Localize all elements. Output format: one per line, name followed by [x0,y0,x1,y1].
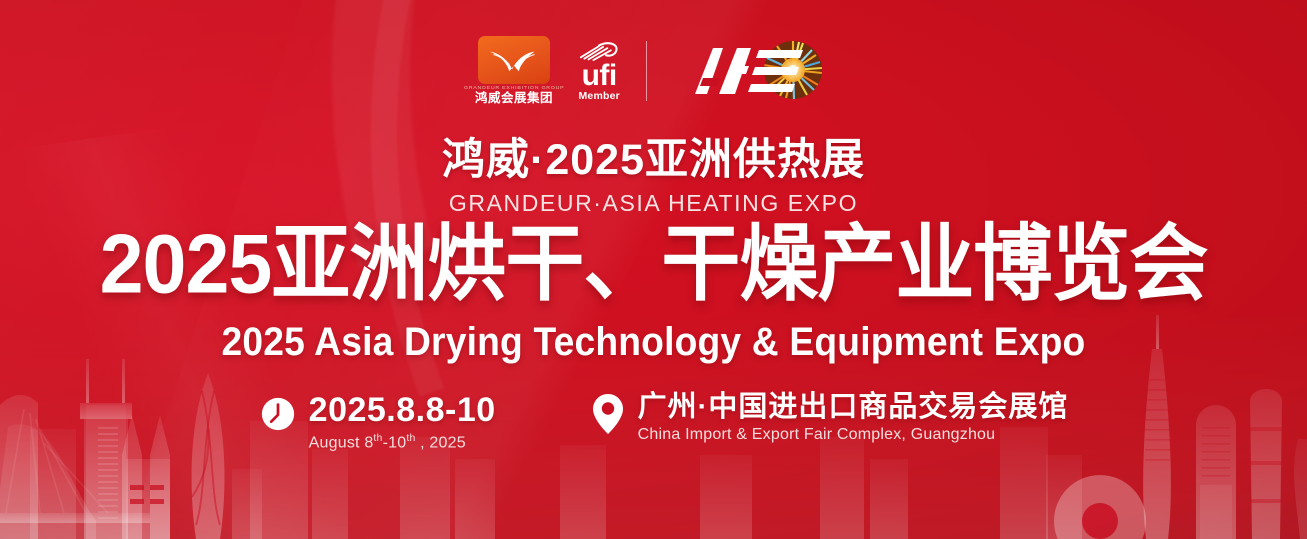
grandeur-wing-badge [478,36,550,84]
map-pin-icon [592,393,624,435]
event-date-sec-prefix: August 8 [309,434,374,451]
event-date-secondary: August 8th-10th , 2025 [309,432,496,452]
event-venue-secondary: China Import & Export Fair Complex, Guan… [638,426,1069,444]
clock-icon [261,397,295,431]
wing-w-icon [486,44,542,76]
ahe-wordmark [695,48,803,94]
main-title-en: 2025 Asia Drying Technology & Equipment … [46,320,1262,365]
event-date-sup-1: th [373,432,382,444]
event-date-text: 2025.8.8-10 August 8th-10th , 2025 [309,392,496,452]
heating-expo-title-cn: 鸿威·2025亚洲供热展 [0,136,1307,184]
ufi-member-label: Member [578,90,619,102]
event-venue-primary: 广州·中国进出口商品交易会展馆 [638,392,1069,423]
expo-banner: GRANDEUR EXHIBITION GROUP 鸿威会展集团 ufi Mem… [0,0,1307,539]
event-date-primary: 2025.8.8-10 [309,392,496,429]
ufi-wordmark: ufi [582,62,617,90]
heating-expo-title-en: GRANDEUR·ASIA HEATING EXPO [0,190,1307,217]
event-date-sup-2: th [406,432,415,444]
event-date-sec-suffix: , 2025 [416,434,466,451]
logo-row: GRANDEUR EXHIBITION GROUP 鸿威会展集团 ufi Mem… [0,36,1307,106]
grandeur-exhibition-group-logo: GRANDEUR EXHIBITION GROUP 鸿威会展集团 [474,36,554,106]
ufi-member-logo: ufi Member [578,40,620,103]
event-date-sec-mid: -10 [383,434,407,451]
ahe-logo [673,40,833,102]
event-venue-text: 广州·中国进出口商品交易会展馆 China Import & Export Fa… [638,392,1069,444]
grandeur-english-line: GRANDEUR EXHIBITION GROUP [464,86,564,90]
logo-divider [646,41,647,101]
event-date-block: 2025.8.8-10 August 8th-10th , 2025 [261,392,496,452]
main-title-cn: 2025亚洲烘干、干燥产业博览会 [0,219,1307,308]
event-venue-block: 广州·中国进出口商品交易会展馆 China Import & Export Fa… [592,392,1069,444]
event-info-row: 2025.8.8-10 August 8th-10th , 2025 广州·中国… [0,392,1307,452]
grandeur-chinese-name: 鸿威会展集团 [475,92,553,106]
